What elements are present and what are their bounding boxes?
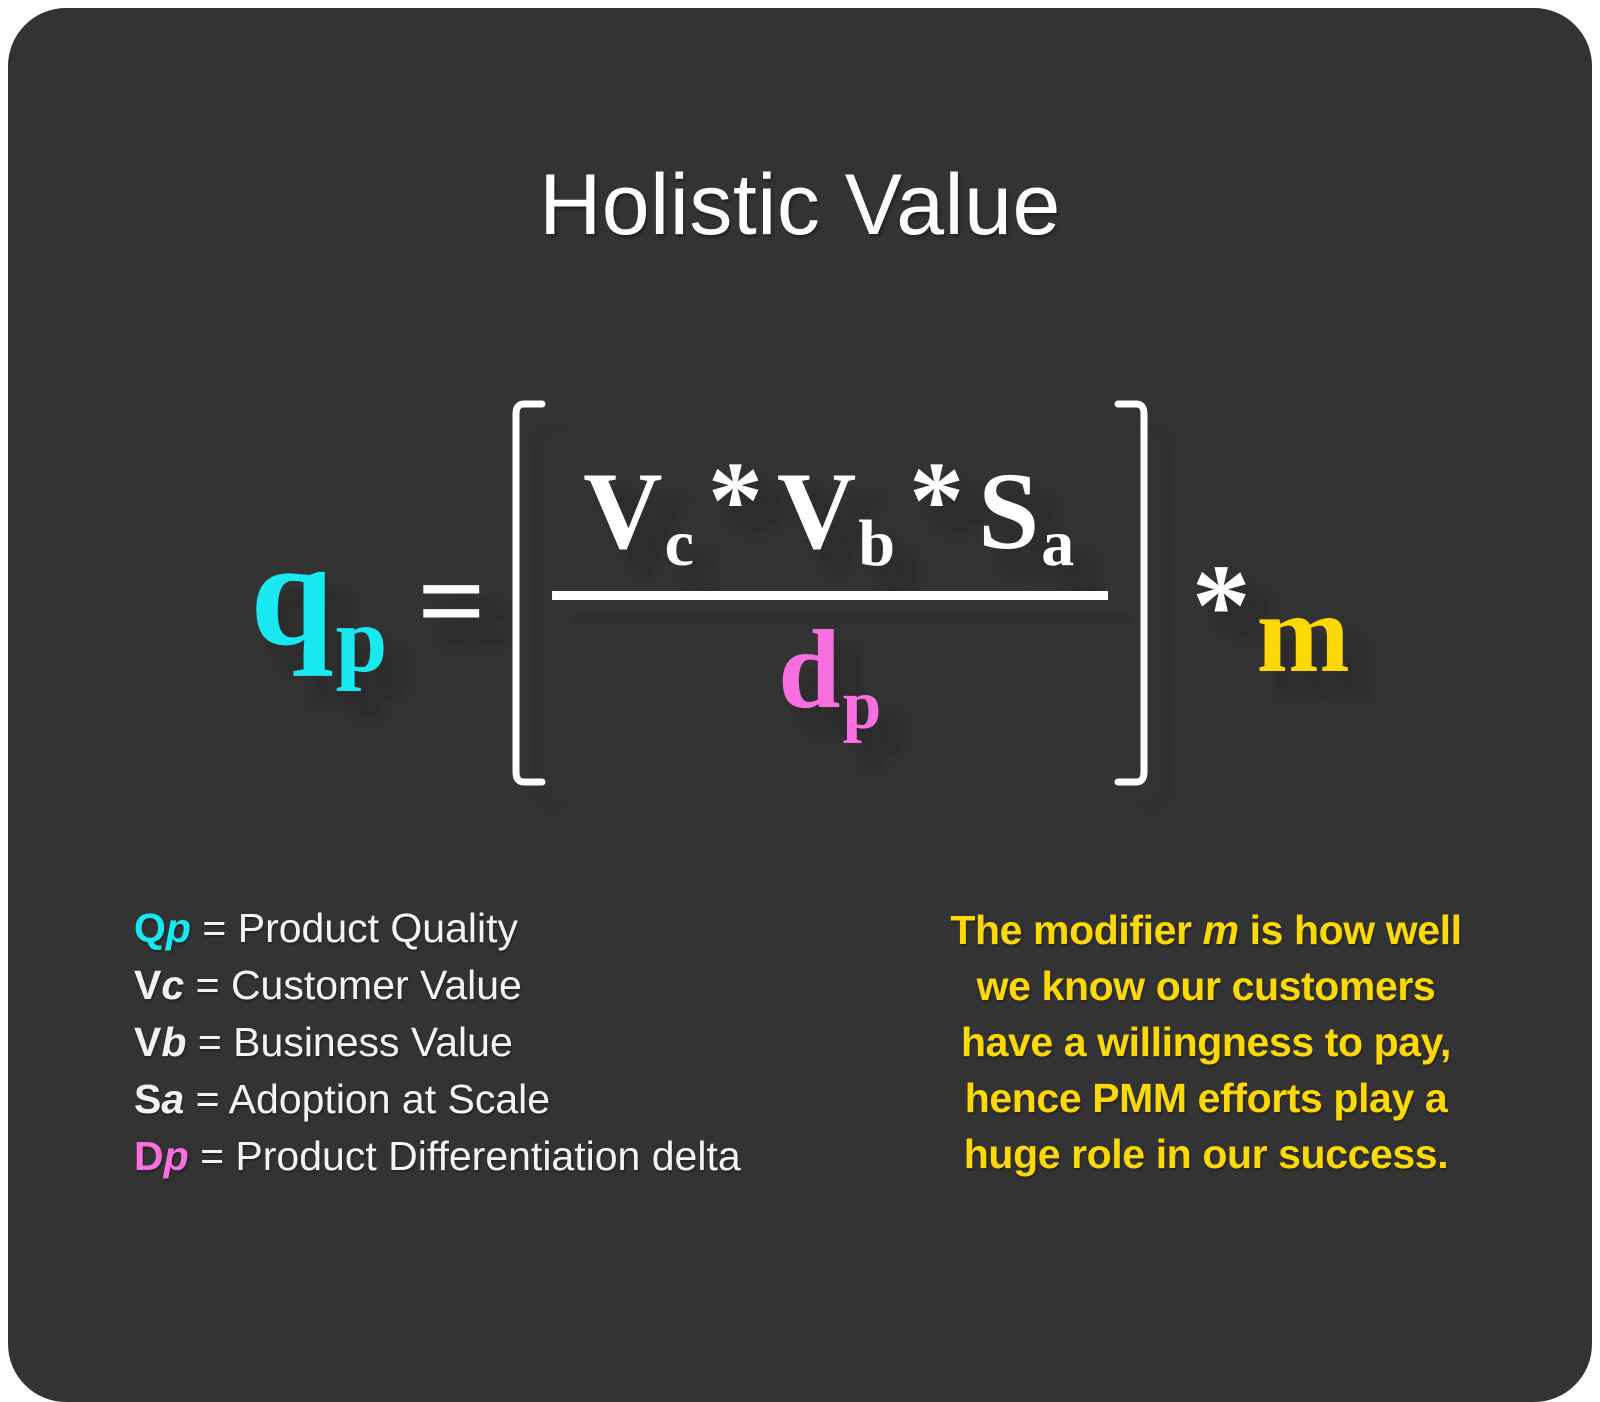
legend-equals: = bbox=[200, 1133, 224, 1179]
legend-list: Qp = Product Quality Vc = Customer Value… bbox=[134, 900, 741, 1185]
right-bracket-icon bbox=[1112, 398, 1152, 788]
legend-description: Product Quality bbox=[238, 905, 518, 951]
legend-key-subscript: a bbox=[161, 1076, 184, 1122]
legend-key-base: V bbox=[134, 1019, 161, 1065]
numerator-term1-base: V bbox=[583, 450, 664, 572]
slide-card: Holistic Value qp = Vc*Vb*Sa dp *m bbox=[8, 8, 1592, 1402]
numerator-operator-1: * bbox=[696, 439, 777, 561]
legend-equals: = bbox=[196, 1076, 220, 1122]
numerator-term2-base: V bbox=[777, 450, 858, 572]
fraction-numerator: Vc*Vb*Sa bbox=[557, 443, 1102, 582]
page-title: Holistic Value bbox=[8, 156, 1592, 255]
formula-modifier-term: *m bbox=[1192, 548, 1350, 690]
legend-key-dp: Dp bbox=[134, 1133, 189, 1179]
formula-block: qp = Vc*Vb*Sa dp *m bbox=[8, 368, 1592, 818]
legend-key-subscript: b bbox=[161, 1019, 186, 1065]
legend-item-sa: Sa = Adoption at Scale bbox=[134, 1071, 741, 1128]
legend-key-qp: Qp bbox=[134, 905, 191, 951]
fraction: Vc*Vb*Sa dp bbox=[552, 443, 1108, 742]
formula-lhs-term: qp bbox=[250, 519, 387, 688]
legend-key-subscript: c bbox=[161, 962, 184, 1008]
legend-item-vb: Vb = Business Value bbox=[134, 1014, 741, 1071]
legend-key-base: Q bbox=[134, 905, 166, 951]
numerator-term2-subscript: b bbox=[858, 508, 897, 581]
legend-item-dp: Dp = Product Differentiation delta bbox=[134, 1128, 741, 1185]
legend-description: Product Differentiation delta bbox=[235, 1133, 740, 1179]
legend-key-base: V bbox=[134, 962, 161, 1008]
denominator-subscript: p bbox=[841, 667, 882, 744]
left-bracket-icon bbox=[508, 398, 548, 788]
legend-description: Business Value bbox=[233, 1019, 513, 1065]
formula-trailing-operator: * bbox=[1192, 541, 1251, 671]
formula-lhs-subscript: p bbox=[334, 589, 388, 692]
numerator-operator-2: * bbox=[897, 439, 978, 561]
legend-equals: = bbox=[202, 905, 226, 951]
numerator-term3-subscript: a bbox=[1041, 508, 1076, 581]
numerator-term3-base: S bbox=[978, 450, 1041, 572]
formula-modifier-symbol: m bbox=[1251, 572, 1350, 696]
numerator-term1-subscript: c bbox=[665, 508, 696, 581]
legend-equals: = bbox=[198, 1019, 222, 1065]
legend-equals: = bbox=[196, 962, 220, 1008]
legend-key-subscript: p bbox=[166, 905, 191, 951]
legend-key-base: D bbox=[134, 1133, 164, 1179]
formula-lhs-base: q bbox=[250, 511, 333, 677]
legend-item-qp: Qp = Product Quality bbox=[134, 900, 741, 957]
formula-equals-sign: = bbox=[417, 541, 485, 661]
fraction-bar bbox=[552, 591, 1108, 600]
fraction-denominator: dp bbox=[778, 610, 881, 743]
legend-key-base: S bbox=[134, 1076, 161, 1122]
legend-key-subscript: p bbox=[164, 1133, 189, 1179]
modifier-note: The modifier m is how well we know our c… bbox=[936, 902, 1476, 1182]
legend-description: Adoption at Scale bbox=[229, 1076, 550, 1122]
modifier-note-emphasis: m bbox=[1203, 907, 1239, 953]
legend-key-sa: Sa bbox=[134, 1076, 184, 1122]
legend-key-vb: Vb bbox=[134, 1019, 186, 1065]
modifier-note-part1: The modifier bbox=[950, 907, 1202, 953]
legend-item-vc: Vc = Customer Value bbox=[134, 957, 741, 1014]
denominator-base: d bbox=[778, 608, 840, 732]
legend-key-vc: Vc bbox=[134, 962, 184, 1008]
legend-description: Customer Value bbox=[231, 962, 522, 1008]
